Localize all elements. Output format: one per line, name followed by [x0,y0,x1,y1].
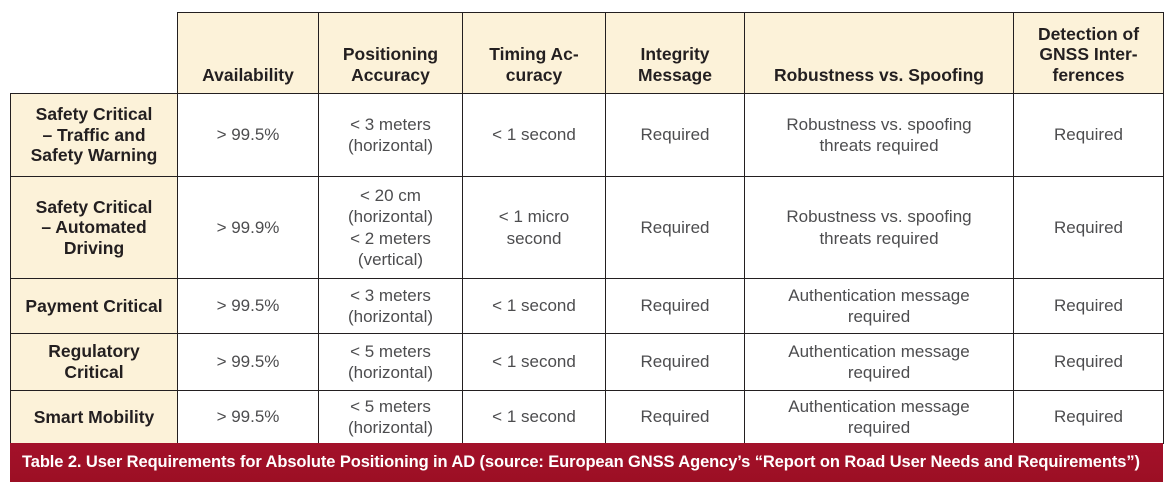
cell-positioning-accuracy: < 3 meters (horizontal) [319,94,463,177]
cell-line-1: < 3 meters [350,286,431,305]
row-header-safety-critical-automated-driving: Safety Critical – Automated Driving [11,177,178,279]
cell-timing-accuracy: < 1 second [463,334,606,391]
cell-line-1: Robustness vs. spoofing [786,207,971,226]
cell-timing-accuracy: < 1 micro second [463,177,606,279]
cell-line-1: < 1 second [492,407,576,426]
cell-timing-accuracy: < 1 second [463,94,606,177]
table-row: Safety Critical – Automated Driving > 99… [11,177,1164,279]
cell-positioning-accuracy: < 5 meters (horizontal) [319,391,463,444]
cell-detection-of-gnss-interferences: Required [1014,177,1164,279]
cell-availability: > 99.9% [178,177,319,279]
cell-integrity-message: Required [606,177,745,279]
table-caption-body: User Requirements for Absolute Positioni… [81,453,1139,471]
cell-line-1: Authentication message [788,397,969,416]
column-header-availability-line-1: Availability [202,65,294,85]
row-header-regulatory-critical: Regulatory Critical [11,334,178,391]
column-header-detection-of-gnss-interferences: Detection of GNSS Inter- ferences [1014,13,1164,94]
cell-line-1: < 1 micro [499,207,569,226]
header-row: Availability Positioning Accuracy Timing… [11,13,1164,94]
row-header-safety-critical-traffic: Safety Critical – Traffic and Safety War… [11,94,178,177]
column-header-timing-accuracy: Timing Ac- curacy [463,13,606,94]
cell-line-1: Authentication message [788,342,969,361]
column-header-robustness-vs-spoofing: Robustness vs. Spoofing [745,13,1014,94]
cell-line-2: required [848,307,910,326]
row-header-line-2: – Traffic and [42,125,145,145]
table-header: Availability Positioning Accuracy Timing… [11,13,1164,94]
table-row: Payment Critical > 99.5% < 3 meters (hor… [11,279,1164,334]
column-header-timing-accuracy-line-1: Timing Ac- [489,44,578,64]
cell-line-2: (horizontal) [348,136,433,155]
column-header-detection-line-2: GNSS Inter- [1039,44,1137,64]
column-header-availability: Availability [178,13,319,94]
cell-availability: > 99.5% [178,94,319,177]
cell-detection-of-gnss-interferences: Required [1014,279,1164,334]
column-header-timing-accuracy-line-2: curacy [506,65,562,85]
column-header-robustness-vs-spoofing-line-1: Robustness vs. Spoofing [774,65,984,85]
cell-line-2: (horizontal) [348,307,433,326]
table-row: Regulatory Critical > 99.5% < 5 meters (… [11,334,1164,391]
row-header-line-1: Safety Critical [36,104,153,124]
cell-line-1: < 1 second [492,352,576,371]
cell-positioning-accuracy: < 5 meters (horizontal) [319,334,463,391]
cell-robustness-vs-spoofing: Robustness vs. spoofing threats required [745,94,1014,177]
cell-line-1: < 5 meters [350,342,431,361]
column-header-positioning-accuracy-line-2: Accuracy [351,65,430,85]
table-row: Smart Mobility > 99.5% < 5 meters (horiz… [11,391,1164,444]
cell-integrity-message: Required [606,391,745,444]
cell-timing-accuracy: < 1 second [463,279,606,334]
cell-line-4: (vertical) [358,250,423,269]
cell-line-2: (horizontal) [348,207,433,226]
cell-line-3: < 2 meters [350,229,431,248]
cell-line-1: < 20 cm [360,186,421,205]
column-header-positioning-accuracy-line-1: Positioning [343,44,438,64]
cell-timing-accuracy: < 1 second [463,391,606,444]
table-body: Safety Critical – Traffic and Safety War… [11,94,1164,444]
row-header-line-3: Safety Warning [31,145,158,165]
cell-positioning-accuracy: < 3 meters (horizontal) [319,279,463,334]
column-header-integrity-message-line-1: Integrity [640,44,709,64]
cell-robustness-vs-spoofing: Authentication message required [745,391,1014,444]
row-header-line-3: Driving [64,238,124,258]
row-header-smart-mobility: Smart Mobility [11,391,178,444]
cell-line-1: < 1 second [492,125,576,144]
cell-line-2: threats required [819,136,938,155]
cell-detection-of-gnss-interferences: Required [1014,94,1164,177]
cell-availability: > 99.5% [178,334,319,391]
table-caption-bar: Table 2. User Requirements for Absolute … [10,443,1163,482]
cell-detection-of-gnss-interferences: Required [1014,334,1164,391]
cell-line-1: Robustness vs. spoofing [786,115,971,134]
row-header-line-1: Payment Critical [25,296,162,316]
table-figure: Availability Positioning Accuracy Timing… [0,0,1175,493]
cell-integrity-message: Required [606,94,745,177]
column-header-detection-line-3: ferences [1053,65,1125,85]
cell-line-2: threats required [819,229,938,248]
user-requirements-table: Availability Positioning Accuracy Timing… [10,12,1164,444]
row-header-line-2: Critical [64,362,123,382]
cell-line-2: (horizontal) [348,418,433,437]
table-row: Safety Critical – Traffic and Safety War… [11,94,1164,177]
column-header-integrity-message: Integrity Message [606,13,745,94]
cell-availability: > 99.5% [178,279,319,334]
cell-robustness-vs-spoofing: Robustness vs. spoofing threats required [745,177,1014,279]
column-header-detection-line-1: Detection of [1038,24,1139,44]
row-header-line-1: Regulatory [48,341,139,361]
cell-positioning-accuracy: < 20 cm (horizontal) < 2 meters (vertica… [319,177,463,279]
row-header-line-1: Safety Critical [36,197,153,217]
cell-availability: > 99.5% [178,391,319,444]
cell-line-2: (horizontal) [348,363,433,382]
row-header-payment-critical: Payment Critical [11,279,178,334]
table-corner-cell [11,13,178,94]
row-header-line-1: Smart Mobility [34,407,155,427]
cell-line-1: Authentication message [788,286,969,305]
cell-line-2: second [507,229,562,248]
cell-line-1: < 5 meters [350,397,431,416]
column-header-positioning-accuracy: Positioning Accuracy [319,13,463,94]
row-header-line-2: – Automated [41,217,146,237]
cell-robustness-vs-spoofing: Authentication message required [745,334,1014,391]
cell-line-1: < 1 second [492,296,576,315]
cell-detection-of-gnss-interferences: Required [1014,391,1164,444]
cell-line-1: < 3 meters [350,115,431,134]
column-header-integrity-message-line-2: Message [638,65,712,85]
table-caption-label: Table 2. [22,453,81,471]
cell-integrity-message: Required [606,279,745,334]
table-caption-text: Table 2. User Requirements for Absolute … [10,453,1150,471]
cell-line-2: required [848,363,910,382]
cell-robustness-vs-spoofing: Authentication message required [745,279,1014,334]
cell-integrity-message: Required [606,334,745,391]
cell-line-2: required [848,418,910,437]
